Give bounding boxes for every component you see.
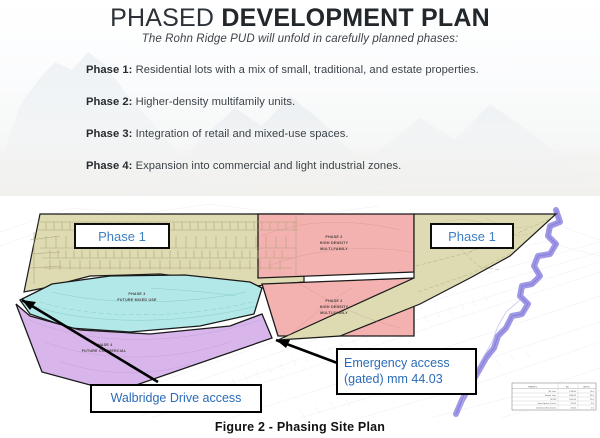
map-label-phase-1-east-text: Phase 1 <box>448 229 496 244</box>
legend-table[interactable]: PHASE 1 AC UNITS SF Lots 148.00 75.0 Est… <box>512 383 596 410</box>
zone-phase-2-high-density-north[interactable] <box>258 214 414 278</box>
zone-3-line2: FUTURE MIXED USE <box>117 298 157 302</box>
map-label-phase-1-west-text: Phase 1 <box>98 229 146 244</box>
title-bold: DEVELOPMENT PLAN <box>221 4 490 32</box>
phase-1-key: Phase 1: <box>86 64 132 76</box>
page-title: PHASED DEVELOPMENT PLAN <box>0 4 600 33</box>
phase-3-key: Phase 3: <box>86 128 132 140</box>
map-label-phase-1-west[interactable]: Phase 1 <box>74 223 170 249</box>
legend-header-2: UNITS <box>583 386 590 388</box>
legend-r3c0: Open Space Tracts <box>537 402 557 405</box>
leader-emergency <box>276 340 340 364</box>
figure-caption: Figure 2 - Phasing Site Plan <box>0 420 600 434</box>
legend-r2c1: 100.00 <box>569 399 576 401</box>
phase-line-1: Phase 1: Residential lots with a mix of … <box>86 64 586 76</box>
phase-1-text: Residential lots with a mix of small, tr… <box>132 64 478 76</box>
page-subtitle: The Rohn Ridge PUD will unfold in carefu… <box>0 33 600 45</box>
phase-4-key: Phase 4: <box>86 160 132 172</box>
legend-r2c0: ROW <box>551 399 557 401</box>
phase-line-4: Phase 4: Expansion into commercial and l… <box>86 160 586 172</box>
phase-2-text: Higher-density multifamily units. <box>132 96 295 108</box>
legend-r1c1: 496.00 <box>569 395 576 397</box>
legend-header-0: PHASE 1 <box>528 385 538 388</box>
zone-2n-line3: MULTI-FAMILY <box>320 247 348 251</box>
legend-r1c0: Estate Lots <box>545 394 557 397</box>
phase-2-key: Phase 2: <box>86 96 132 108</box>
callout-emergency-access[interactable]: Emergency access (gated) mm 44.03 <box>336 348 477 395</box>
legend-r4c0: Detention Easement <box>536 406 556 409</box>
phase-4-text: Expansion into commercial and light indu… <box>132 160 401 172</box>
callout-walbridge-drive-access[interactable]: Walbridge Drive access <box>90 384 262 413</box>
callout-walbridge-text: Walbridge Drive access <box>111 391 242 407</box>
zone-3-line1: PHASE 3 <box>128 292 145 296</box>
zone-2n-line2: HIGH DENSITY <box>320 241 349 245</box>
legend-r4c1: 22.00 <box>571 407 577 409</box>
phase-3-text: Integration of retail and mixed-use spac… <box>132 128 348 140</box>
zone-2s-line2: HIGH DENSITY <box>320 305 349 309</box>
zone-2s-line1: PHASE 2 <box>325 299 342 303</box>
zone-2s-line3: MULTI-FAMILY <box>320 311 348 315</box>
header-panel: PHASED DEVELOPMENT PLAN The Rohn Ridge P… <box>0 0 600 196</box>
legend-r0c0: SF Lots <box>548 390 556 393</box>
map-label-phase-1-east[interactable]: Phase 1 <box>430 223 514 249</box>
phase-line-3: Phase 3: Integration of retail and mixed… <box>86 128 586 140</box>
callout-emergency-line1: Emergency access <box>344 356 469 372</box>
callout-emergency-line2: (gated) mm 44.03 <box>344 372 469 388</box>
legend-r0c1: 148.00 <box>569 391 576 393</box>
phase-line-2: Phase 2: Higher-density multifamily unit… <box>86 96 586 108</box>
legend-header-1: AC <box>566 385 569 388</box>
title-light: PHASED <box>110 4 221 32</box>
zone-2n-line1: PHASE 2 <box>325 235 342 239</box>
legend-r3c1: 41.00 <box>571 403 577 405</box>
